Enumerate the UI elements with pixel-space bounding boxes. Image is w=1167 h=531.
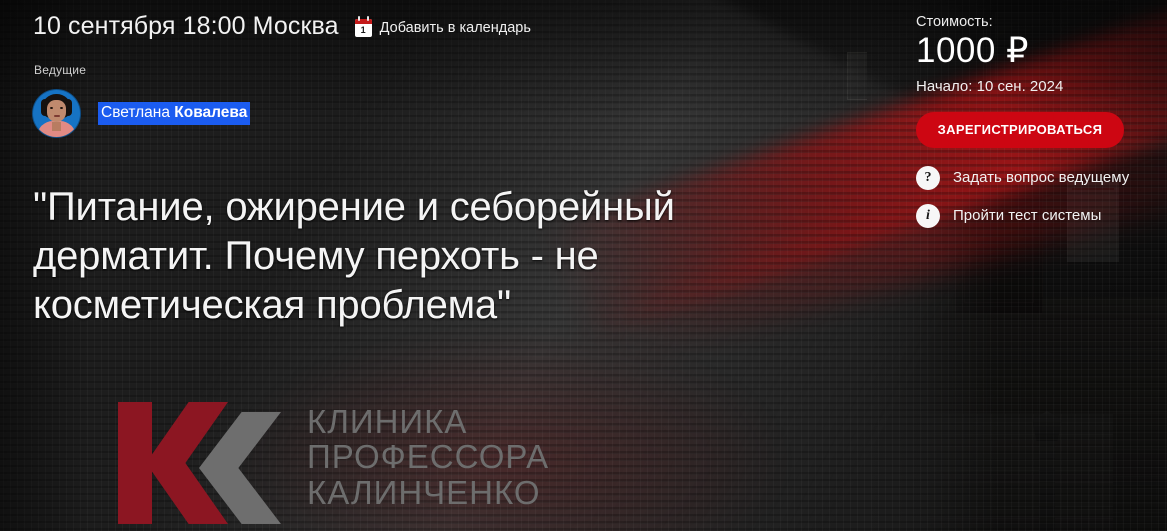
system-test-label: Пройти тест системы: [953, 207, 1101, 224]
event-datetime: 10 сентября 18:00 Москва: [33, 12, 339, 41]
ask-question-label: Задать вопрос ведущему: [953, 169, 1129, 186]
logo-k-mark-icon: [113, 392, 285, 530]
logo-line-3: КАЛИНЧЕНКО: [307, 475, 549, 510]
speaker-name[interactable]: Светлана Ковалева: [98, 102, 250, 125]
price-label: Стоимость:: [916, 14, 1156, 30]
avatar: [33, 90, 80, 137]
logo-wordmark: КЛИНИКА ПРОФЕССОРА КАЛИНЧЕНКО: [307, 392, 549, 510]
datetime-row: 10 сентября 18:00 Москва 1 Добавить в ка…: [33, 12, 531, 41]
question-mark-icon: ?: [916, 166, 940, 190]
speaker-last-name: Ковалева: [174, 104, 247, 121]
hosts-section-label: Ведущие: [34, 63, 86, 77]
add-to-calendar-button[interactable]: 1 Добавить в календарь: [355, 19, 531, 37]
register-button[interactable]: ЗАРЕГИСТРИРОВАТЬСЯ: [916, 112, 1124, 148]
host-row: Светлана Ковалева: [33, 90, 250, 137]
add-to-calendar-label: Добавить в календарь: [380, 20, 531, 36]
system-test-link[interactable]: i Пройти тест системы: [916, 204, 1156, 228]
ask-question-link[interactable]: ? Задать вопрос ведущему: [916, 166, 1156, 190]
logo-line-2: ПРОФЕССОРА: [307, 439, 549, 474]
info-icon: i: [916, 204, 940, 228]
start-date: Начало: 10 сен. 2024: [916, 78, 1156, 95]
webinar-landing-page: 10 сентября 18:00 Москва 1 Добавить в ка…: [0, 0, 1167, 531]
speaker-first-name: Светлана: [101, 104, 174, 121]
page-title: "Питание, ожирение и себорейный дерматит…: [33, 183, 853, 329]
price-value: 1000 ₽: [916, 32, 1156, 70]
clinic-logo: КЛИНИКА ПРОФЕССОРА КАЛИНЧЕНКО: [113, 392, 549, 530]
calendar-icon-day: 1: [355, 24, 372, 37]
registration-sidebar: Стоимость: 1000 ₽ Начало: 10 сен. 2024 З…: [916, 14, 1156, 242]
logo-line-1: КЛИНИКА: [307, 404, 549, 439]
calendar-icon: 1: [355, 19, 372, 37]
